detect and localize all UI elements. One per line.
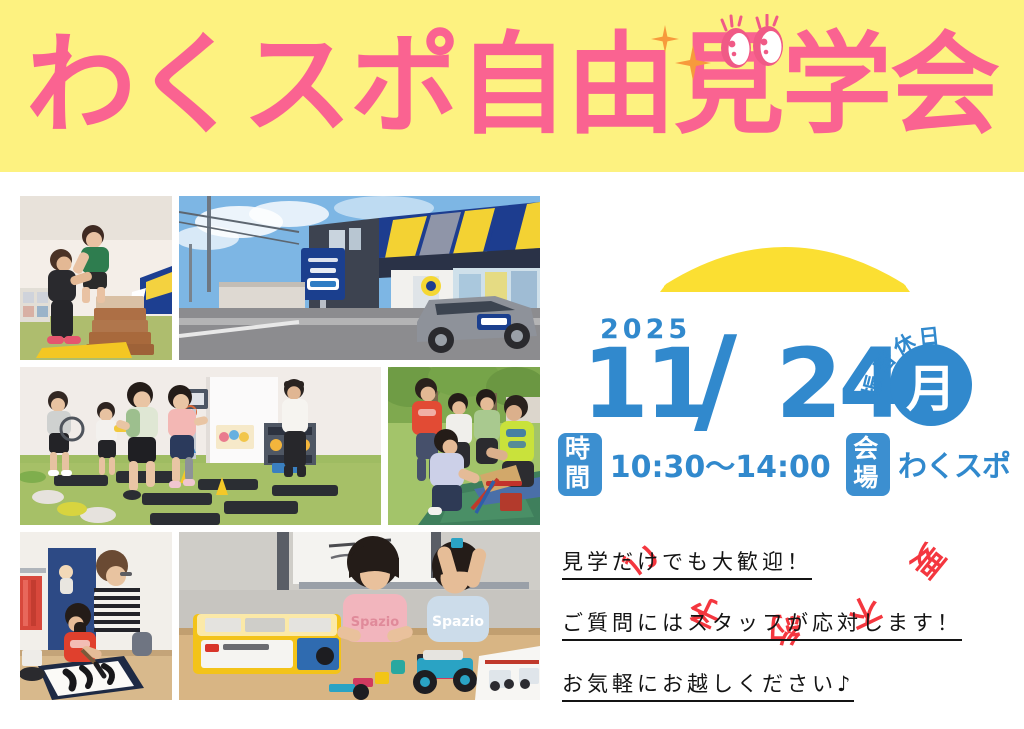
time-value: 10:30〜14:00 [610, 442, 831, 486]
svg-text:Spazio: Spazio [351, 615, 399, 630]
note-text: 見学だけでも大歓迎！ [562, 550, 812, 580]
note-item: 見学だけでも大歓迎！ [562, 546, 1008, 576]
note-text: お気軽にお越しください♪ [562, 672, 854, 702]
date-separator: / [694, 320, 737, 438]
notes-list: 見学だけでも大歓迎！ ご質問にはスタッフが応対します！ お気軽にお越しください♪ [562, 546, 1008, 729]
venue-label-badge: 会場 [846, 433, 890, 496]
note-item: ご質問にはスタッフが応対します！ [562, 607, 1008, 637]
page-title: わくスポ自由見学会 [0, 30, 1024, 140]
event-details-panel: ご予約不要 2025 1124 / 月 振替休日 時間 10:30〜14:00 … [556, 196, 1008, 700]
photo-facility-exterior [179, 196, 540, 360]
photo-calligraphy-class [20, 532, 172, 700]
photo-indoor-agility-training [20, 367, 381, 525]
photo-outdoor-nature-activity [388, 367, 540, 525]
photo-gallery: Spazio Spazio [20, 196, 540, 700]
photo-jumping-vault-box [20, 196, 172, 360]
header-banner: わくスポ自由見学会 [0, 0, 1024, 172]
time-venue-row: 時間 10:30〜14:00 会場 わくスポ [558, 444, 1010, 484]
event-date-block: 2025 1124 / 月 振替休日 [556, 300, 1008, 432]
photo-row-1 [20, 196, 540, 360]
note-text: ご質問にはスタッフが応対します！ [562, 611, 962, 641]
venue-value: わくスポ [898, 443, 1010, 485]
no-reservation-badge: ご予約不要 [660, 226, 910, 292]
event-month-day: 1124 [582, 336, 901, 432]
photo-row-3: Spazio Spazio [20, 532, 540, 700]
sparkle-icon [674, 44, 712, 82]
note-item: お気軽にお越しください♪ [562, 668, 1008, 698]
photo-row-2 [20, 367, 540, 525]
event-month: 11 [582, 328, 708, 440]
svg-text:Spazio: Spazio [432, 614, 484, 630]
title-decoration [636, 14, 816, 84]
photo-robotics-lego-class: Spazio Spazio [179, 532, 540, 700]
no-reservation-text: ご予約不要 [660, 226, 910, 292]
arc-char: 日 [917, 320, 941, 352]
time-label-badge: 時間 [558, 433, 602, 496]
cartoon-eyes-icon [718, 14, 790, 76]
holiday-note: 振替休日 [878, 316, 994, 372]
